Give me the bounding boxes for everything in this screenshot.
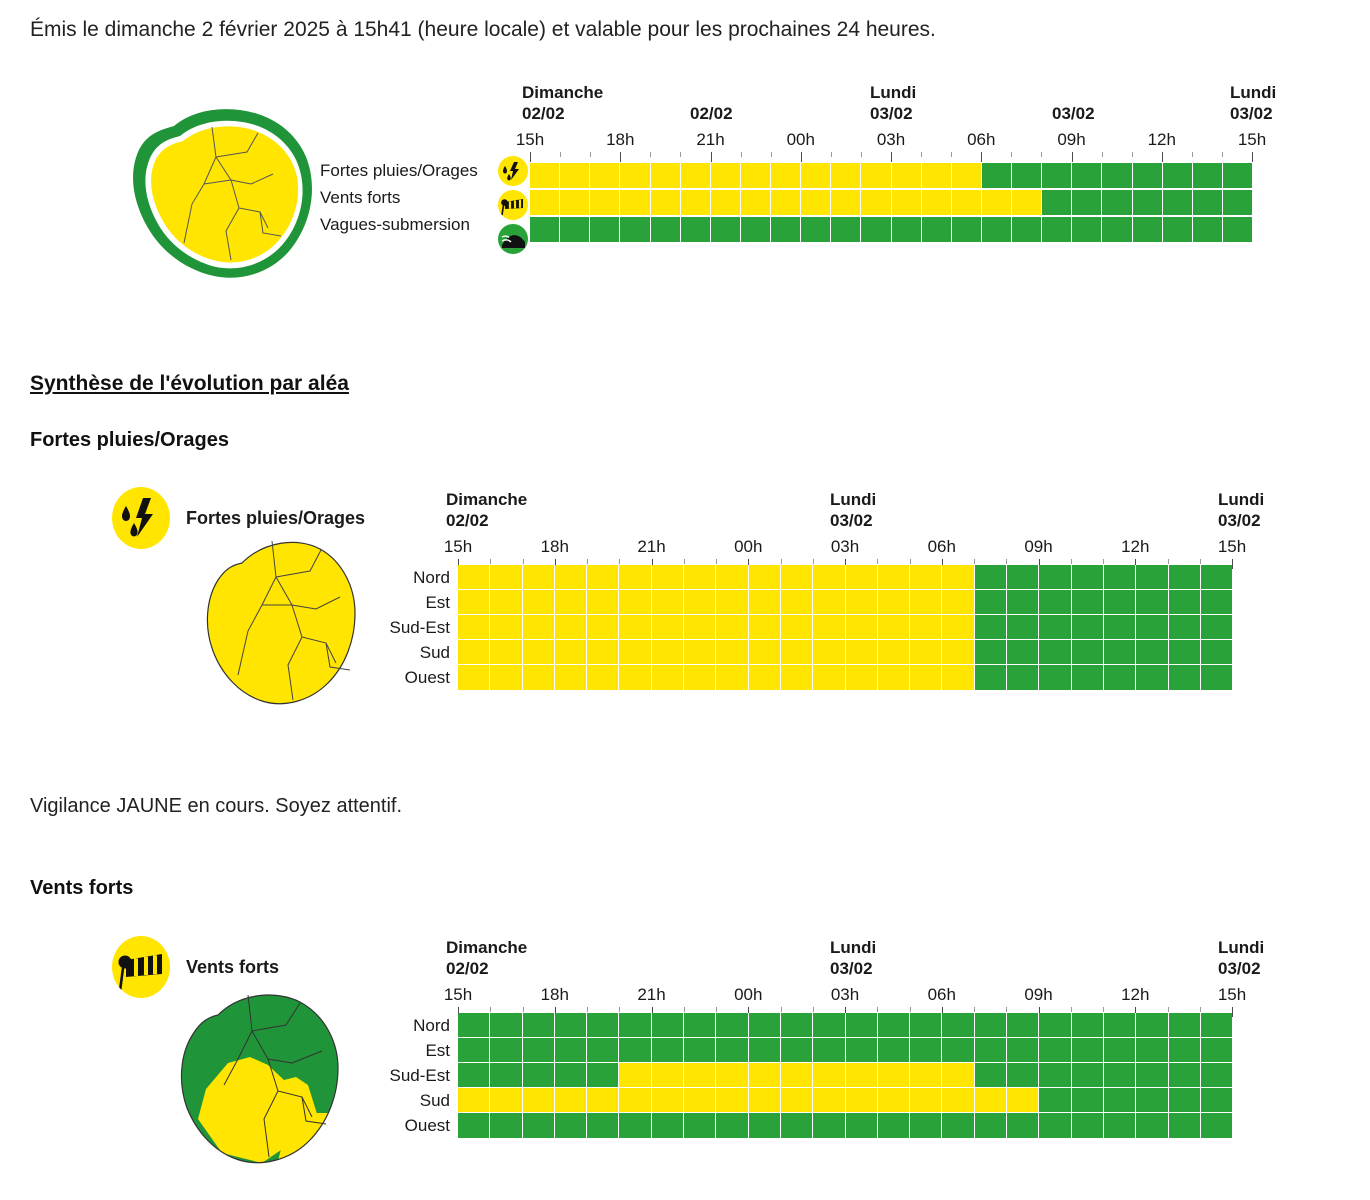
timeline-cell — [1133, 217, 1163, 242]
timeline-cell — [781, 590, 813, 615]
timeline-cell — [846, 1013, 878, 1038]
timeline-cell — [1136, 1038, 1168, 1063]
timeline-cell — [684, 615, 716, 640]
timeline-cell — [910, 615, 942, 640]
hour-tick — [1222, 152, 1223, 157]
hour-label: 15h — [1238, 130, 1266, 150]
timeline-cell — [892, 217, 922, 242]
overview-hazard-label: Vagues-submersion — [320, 215, 490, 235]
timeline-cell — [846, 1038, 878, 1063]
timeline-cell — [1072, 1063, 1104, 1088]
timeline-cell — [1104, 665, 1136, 690]
timeline-cell — [684, 1088, 716, 1113]
hour-tick — [650, 152, 651, 157]
hour-tick — [1071, 559, 1072, 564]
timeline-cell — [922, 217, 952, 242]
reunion-overview-map — [100, 100, 340, 280]
hour-tick — [716, 1007, 717, 1012]
strong-wind-icon — [498, 190, 528, 220]
timeline-cell — [1072, 615, 1104, 640]
timeline-cell — [781, 665, 813, 690]
timeline-cell — [530, 217, 560, 242]
timeline-cell — [741, 190, 771, 215]
timeline-cell — [590, 163, 620, 188]
hour-label: 12h — [1121, 985, 1149, 1005]
timeline-cell — [1163, 163, 1193, 188]
timeline-cell — [530, 190, 560, 215]
legend-label: Vents forts — [186, 957, 279, 978]
timeline-cell — [892, 190, 922, 215]
timeline-cell — [1136, 590, 1168, 615]
timeline-cell — [652, 590, 684, 615]
timeline-cell — [781, 1038, 813, 1063]
day-label: Lundi 03/02 — [830, 937, 876, 979]
timeline-cell — [1136, 1013, 1168, 1038]
hour-label: 12h — [1121, 537, 1149, 557]
hour-tick — [1168, 1007, 1169, 1012]
timeline-cell — [741, 217, 771, 242]
timeline-cell — [1169, 590, 1201, 615]
timeline-cell — [619, 1113, 651, 1138]
hour-tick — [1011, 152, 1012, 157]
hour-label: 03h — [831, 537, 859, 557]
timeline-cell — [1072, 665, 1104, 690]
timeline-cell — [619, 1013, 651, 1038]
timeline-cell — [523, 565, 555, 590]
timeline-cell — [1133, 190, 1163, 215]
timeline-row — [458, 665, 1232, 690]
hour-tick — [587, 559, 588, 564]
timeline-cell — [560, 190, 590, 215]
hour-tick — [813, 559, 814, 564]
timeline-cell — [681, 163, 711, 188]
timeline-cell — [652, 665, 684, 690]
vf-hour-labels: 15h18h21h00h03h06h09h12h15h — [458, 985, 1232, 1009]
timeline-row — [458, 1088, 1232, 1113]
timeline-cell — [975, 1013, 1007, 1038]
timeline-cell — [1039, 1088, 1071, 1113]
timeline-cell — [523, 665, 555, 690]
hour-tick — [684, 559, 685, 564]
timeline-cell — [681, 217, 711, 242]
timeline-cell — [813, 1063, 845, 1088]
timeline-cell — [910, 1088, 942, 1113]
timeline-cell — [619, 1088, 651, 1113]
timeline-cell — [652, 1038, 684, 1063]
timeline-cell — [490, 565, 522, 590]
timeline-cell — [942, 1088, 974, 1113]
timeline-cell — [652, 1113, 684, 1138]
timeline-cell — [555, 565, 587, 590]
timeline-row — [458, 1038, 1232, 1063]
timeline-cell — [458, 590, 490, 615]
hour-tick — [490, 1007, 491, 1012]
timeline-row — [530, 217, 1252, 242]
zone-label-sud-est: Sud-Est — [300, 1066, 450, 1086]
timeline-cell — [922, 163, 952, 188]
timeline-cell — [523, 590, 555, 615]
timeline-cell — [781, 565, 813, 590]
timeline-cell — [878, 1113, 910, 1138]
timeline-cell — [684, 590, 716, 615]
timeline-cell — [587, 565, 619, 590]
timeline-cell — [813, 1088, 845, 1113]
timeline-cell — [1136, 1063, 1168, 1088]
timeline-cell — [749, 640, 781, 665]
timeline-cell — [878, 1038, 910, 1063]
timeline-cell — [1072, 1113, 1104, 1138]
hour-tick — [877, 559, 878, 564]
timeline-cell — [620, 217, 650, 242]
timeline-cell — [1072, 217, 1102, 242]
hour-label: 00h — [787, 130, 815, 150]
timeline-cell — [1007, 1113, 1039, 1138]
timeline-cell — [651, 163, 681, 188]
timeline-cell — [982, 163, 1012, 188]
hour-label: 15h — [444, 537, 472, 557]
timeline-cell — [523, 640, 555, 665]
timeline-cell — [952, 190, 982, 215]
timeline-cell — [1072, 163, 1102, 188]
timeline-cell — [619, 615, 651, 640]
timeline-cell — [749, 615, 781, 640]
timeline-cell — [1136, 565, 1168, 590]
timeline-cell — [942, 1013, 974, 1038]
timeline-cell — [716, 615, 748, 640]
vigilance-note: Vigilance JAUNE en cours. Soyez attentif… — [30, 795, 402, 818]
section-title-fortes-pluies: Fortes pluies/Orages — [30, 429, 229, 452]
timeline-cell — [1039, 1038, 1071, 1063]
hour-label: 15h — [1218, 537, 1246, 557]
hour-label: 09h — [1024, 985, 1052, 1005]
timeline-cell — [458, 1113, 490, 1138]
hour-label: 03h — [831, 985, 859, 1005]
timeline-cell — [771, 190, 801, 215]
timeline-cell — [652, 615, 684, 640]
timeline-cell — [771, 217, 801, 242]
timeline-cell — [892, 163, 922, 188]
day-label: Lundi 03/02 — [830, 489, 876, 531]
hour-tick — [1232, 1007, 1233, 1017]
hour-label: 18h — [541, 985, 569, 1005]
timeline-row — [530, 190, 1252, 215]
overview-hazard-label: Vents forts — [320, 188, 490, 208]
timeline-cell — [684, 1063, 716, 1088]
timeline-cell — [1223, 217, 1252, 242]
timeline-cell — [1169, 1038, 1201, 1063]
timeline-row — [458, 615, 1232, 640]
timeline-cell — [1072, 1038, 1104, 1063]
timeline-cell — [1104, 590, 1136, 615]
hour-label: 15h — [444, 985, 472, 1005]
timeline-cell — [619, 665, 651, 690]
timeline-cell — [771, 163, 801, 188]
timeline-row — [458, 1113, 1232, 1138]
timeline-cell — [555, 1088, 587, 1113]
timeline-cell — [942, 615, 974, 640]
timeline-cell — [530, 163, 560, 188]
day-label: Dimanche 02/02 — [446, 937, 527, 979]
timeline-cell — [1201, 1088, 1232, 1113]
timeline-cell — [681, 190, 711, 215]
timeline-cell — [716, 640, 748, 665]
day-label: Lundi 03/02 — [1218, 937, 1264, 979]
timeline-cell — [975, 1063, 1007, 1088]
timeline-cell — [490, 1038, 522, 1063]
timeline-cell — [1201, 1038, 1232, 1063]
timeline-cell — [942, 1113, 974, 1138]
timeline-cell — [975, 615, 1007, 640]
hour-label: 09h — [1024, 537, 1052, 557]
timeline-cell — [711, 163, 741, 188]
timeline-cell — [1223, 190, 1252, 215]
timeline-cell — [781, 1113, 813, 1138]
day-label: 03/02 — [1052, 103, 1095, 124]
timeline-cell — [490, 640, 522, 665]
timeline-cell — [801, 163, 831, 188]
hour-tick — [490, 559, 491, 564]
timeline-cell — [1193, 190, 1223, 215]
hour-tick — [877, 1007, 878, 1012]
hour-tick — [1168, 559, 1169, 564]
timeline-cell — [910, 665, 942, 690]
timeline-cell — [716, 1088, 748, 1113]
timeline-cell — [1007, 1013, 1039, 1038]
timeline-cell — [975, 565, 1007, 590]
timeline-cell — [490, 665, 522, 690]
timeline-cell — [878, 1013, 910, 1038]
timeline-cell — [801, 190, 831, 215]
hour-label: 00h — [734, 537, 762, 557]
timeline-cell — [749, 1063, 781, 1088]
timeline-cell — [1039, 1063, 1071, 1088]
zone-label-est: Est — [300, 593, 450, 613]
hour-tick — [620, 152, 621, 162]
hour-tick — [716, 559, 717, 564]
timeline-cell — [523, 1013, 555, 1038]
timeline-cell — [458, 1063, 490, 1088]
timeline-row — [458, 1013, 1232, 1038]
timeline-cell — [846, 1088, 878, 1113]
hour-tick — [741, 152, 742, 157]
hour-tick — [771, 152, 772, 157]
hour-tick — [891, 152, 892, 162]
timeline-cell — [813, 640, 845, 665]
hour-tick — [1252, 152, 1253, 162]
timeline-cell — [651, 190, 681, 215]
timeline-cell — [1039, 590, 1071, 615]
timeline-cell — [490, 1063, 522, 1088]
timeline-cell — [716, 1013, 748, 1038]
hour-tick — [711, 152, 712, 162]
hour-label: 12h — [1148, 130, 1176, 150]
timeline-cell — [1042, 190, 1072, 215]
timeline-cell — [910, 1063, 942, 1088]
timeline-cell — [1039, 640, 1071, 665]
timeline-cell — [1201, 565, 1232, 590]
timeline-cell — [749, 590, 781, 615]
timeline-cell — [813, 615, 845, 640]
timeline-cell — [587, 1038, 619, 1063]
hour-tick — [590, 152, 591, 157]
timeline-cell — [1104, 1088, 1136, 1113]
timeline-cell — [619, 1038, 651, 1063]
timeline-cell — [910, 640, 942, 665]
timeline-cell — [982, 190, 1012, 215]
hour-tick — [861, 152, 862, 157]
timeline-cell — [490, 1113, 522, 1138]
timeline-cell — [458, 640, 490, 665]
timeline-cell — [1169, 615, 1201, 640]
timeline-cell — [684, 665, 716, 690]
timeline-cell — [831, 190, 861, 215]
timeline-cell — [813, 1038, 845, 1063]
timeline-cell — [458, 1013, 490, 1038]
timeline-cell — [781, 1013, 813, 1038]
vf-timeline-grid — [458, 1013, 1232, 1138]
hour-tick — [910, 1007, 911, 1012]
timeline-cell — [490, 1013, 522, 1038]
hour-tick — [921, 152, 922, 157]
hour-tick — [684, 1007, 685, 1012]
timeline-cell — [861, 190, 891, 215]
fp-day-labels: Dimanche 02/02 Lundi 03/02 Lundi 03/02 — [458, 489, 1232, 535]
hour-label: 18h — [606, 130, 634, 150]
timeline-cell — [1104, 615, 1136, 640]
timeline-cell — [560, 217, 590, 242]
timeline-cell — [587, 665, 619, 690]
zone-label-ouest: Ouest — [300, 1116, 450, 1136]
timeline-cell — [975, 1088, 1007, 1113]
timeline-cell — [716, 1063, 748, 1088]
timeline-cell — [1169, 1113, 1201, 1138]
timeline-cell — [1102, 190, 1132, 215]
timeline-cell — [1007, 640, 1039, 665]
timeline-cell — [861, 163, 891, 188]
overview-timeline-vagues-submersion — [530, 217, 1252, 242]
hour-tick — [1041, 152, 1042, 157]
timeline-cell — [652, 1013, 684, 1038]
timeline-row — [458, 640, 1232, 665]
timeline-cell — [781, 1088, 813, 1113]
overview-hour-labels: 15h18h21h00h03h06h09h12h15h — [530, 130, 1252, 154]
timeline-cell — [813, 590, 845, 615]
timeline-row — [458, 590, 1232, 615]
hour-label: 15h — [1218, 985, 1246, 1005]
timeline-cell — [1039, 1113, 1071, 1138]
timeline-cell — [716, 1038, 748, 1063]
hour-label: 09h — [1057, 130, 1085, 150]
hour-tick — [619, 1007, 620, 1012]
timeline-cell — [1012, 190, 1042, 215]
timeline-cell — [1201, 640, 1232, 665]
timeline-cell — [652, 1088, 684, 1113]
hour-label: 03h — [877, 130, 905, 150]
timeline-cell — [1072, 1088, 1104, 1113]
hour-tick — [910, 559, 911, 564]
timeline-cell — [587, 1013, 619, 1038]
timeline-cell — [1169, 665, 1201, 690]
hour-tick — [1072, 152, 1073, 162]
timeline-cell — [523, 1088, 555, 1113]
timeline-cell — [749, 565, 781, 590]
timeline-cell — [619, 565, 651, 590]
timeline-cell — [684, 1013, 716, 1038]
day-label: Lundi 03/02 — [1230, 82, 1276, 124]
timeline-cell — [1039, 1013, 1071, 1038]
timeline-cell — [1072, 190, 1102, 215]
timeline-cell — [1169, 1013, 1201, 1038]
timeline-cell — [1102, 217, 1132, 242]
timeline-cell — [781, 615, 813, 640]
timeline-cell — [555, 615, 587, 640]
timeline-cell — [846, 1113, 878, 1138]
hour-tick — [1006, 1007, 1007, 1012]
timeline-cell — [555, 1113, 587, 1138]
timeline-cell — [523, 615, 555, 640]
timeline-cell — [1136, 640, 1168, 665]
timeline-cell — [942, 565, 974, 590]
timeline-cell — [982, 217, 1012, 242]
timeline-cell — [560, 163, 590, 188]
hour-tick — [1200, 1007, 1201, 1012]
timeline-row — [458, 565, 1232, 590]
hour-tick — [530, 152, 531, 162]
timeline-cell — [651, 217, 681, 242]
timeline-cell — [1201, 1113, 1232, 1138]
timeline-cell — [490, 590, 522, 615]
timeline-cell — [555, 1038, 587, 1063]
timeline-cell — [1072, 565, 1104, 590]
overview-hazard-label: Fortes pluies/Orages — [320, 161, 490, 181]
timeline-cell — [910, 1013, 942, 1038]
timeline-cell — [1136, 665, 1168, 690]
hour-tick — [981, 152, 982, 162]
timeline-cell — [1012, 217, 1042, 242]
timeline-cell — [813, 1013, 845, 1038]
hour-label: 21h — [637, 537, 665, 557]
timeline-cell — [587, 590, 619, 615]
timeline-row — [458, 1063, 1232, 1088]
timeline-cell — [490, 615, 522, 640]
hour-tick — [1162, 152, 1163, 162]
fp-timeline-grid — [458, 565, 1232, 690]
timeline-cell — [711, 217, 741, 242]
timeline-cell — [846, 665, 878, 690]
timeline-cell — [801, 217, 831, 242]
timeline-cell — [1163, 190, 1193, 215]
timeline-cell — [942, 1038, 974, 1063]
timeline-cell — [1201, 1013, 1232, 1038]
timeline-cell — [1039, 665, 1071, 690]
timeline-cell — [1072, 1013, 1104, 1038]
hour-label: 21h — [696, 130, 724, 150]
timeline-cell — [1169, 1063, 1201, 1088]
timeline-cell — [1169, 640, 1201, 665]
timeline-cell — [1104, 1063, 1136, 1088]
hour-tick — [1232, 559, 1233, 569]
timeline-cell — [910, 590, 942, 615]
timeline-cell — [749, 1113, 781, 1138]
timeline-cell — [813, 1113, 845, 1138]
timeline-cell — [846, 1063, 878, 1088]
timeline-cell — [1169, 1088, 1201, 1113]
timeline-cell — [1193, 163, 1223, 188]
zone-label-ouest: Ouest — [300, 668, 450, 688]
timeline-cell — [587, 1088, 619, 1113]
hour-tick — [1200, 559, 1201, 564]
timeline-cell — [684, 565, 716, 590]
